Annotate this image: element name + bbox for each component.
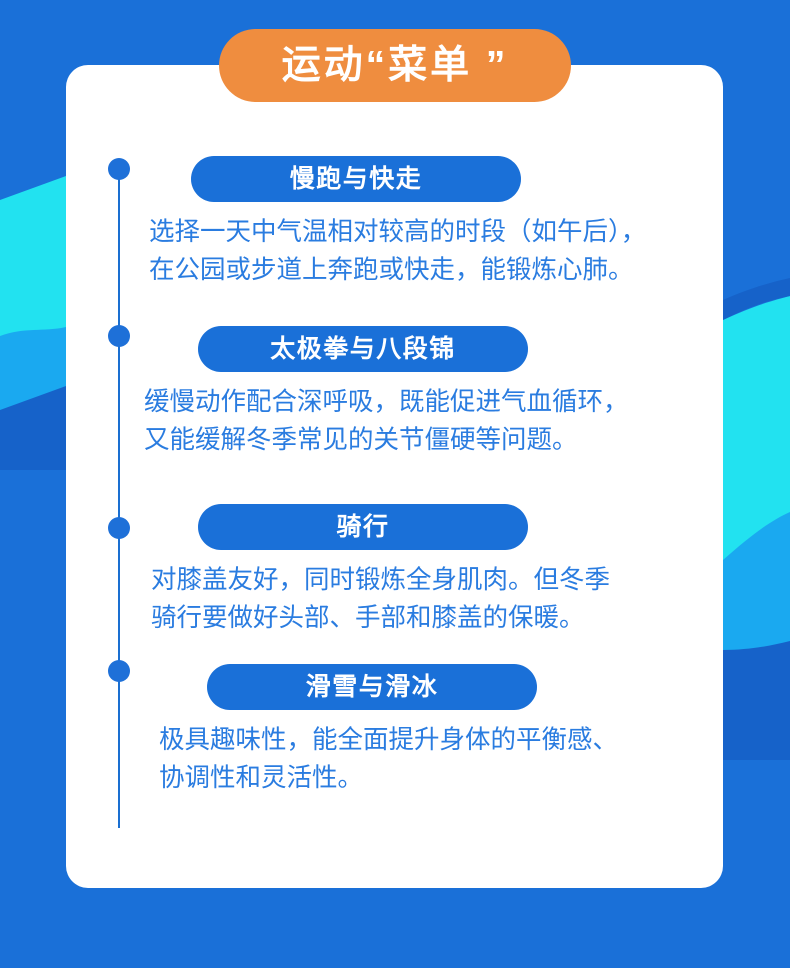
section-1-title: 慢跑与快走 [290, 167, 423, 192]
timeline-dot-3 [108, 517, 130, 539]
left-wave-top-deep [0, 140, 66, 200]
section-3-title: 骑行 [336, 515, 389, 540]
section-2: 太极拳与八段锦 缓慢动作配合深呼吸，既能促进气血循环， 又能缓解冬季常见的关节僵… [147, 326, 712, 459]
section-2-body: 缓慢动作配合深呼吸，既能促进气血循环， 又能缓解冬季常见的关节僵硬等问题。 [144, 383, 712, 459]
section-4-pill[interactable]: 滑雪与滑冰 [207, 664, 537, 710]
section-4-body: 极具趣味性，能全面提升身体的平衡感、 协调性和灵活性。 [159, 721, 712, 797]
left-wave-lightblue [0, 327, 66, 414]
right-wave-lightblue [723, 512, 790, 656]
section-3-body: 对膝盖友好，同时锻炼全身肌肉。但冬季 骑行要做好头部、手部和膝盖的保暖。 [151, 561, 712, 637]
section-2-title: 太极拳与八段锦 [270, 337, 456, 362]
left-wave-cyan-2 [0, 176, 66, 345]
poster-root: 运动“菜单 ” 慢跑与快走 选择一天中气温相对较高的时段（如午后）， 在公园或步… [0, 0, 790, 968]
page-title: 运动“菜单 ” [282, 46, 509, 85]
left-wave-cyan [0, 172, 66, 340]
section-3-pill[interactable]: 骑行 [198, 504, 528, 550]
timeline-line [118, 160, 120, 828]
section-4: 滑雪与滑冰 极具趣味性，能全面提升身体的平衡感、 协调性和灵活性。 [147, 664, 712, 797]
right-wave-cyan [723, 296, 790, 650]
title-pill: 运动“菜单 ” [219, 29, 571, 102]
section-1-pill[interactable]: 慢跑与快走 [191, 156, 521, 202]
left-wave-deep [0, 386, 66, 470]
right-wave-deep-bottom [723, 641, 790, 760]
right-wave-deep-top [723, 278, 790, 320]
section-2-pill[interactable]: 太极拳与八段锦 [198, 326, 528, 372]
timeline-dot-4 [108, 660, 130, 682]
section-1: 慢跑与快走 选择一天中气温相对较高的时段（如午后）， 在公园或步道上奔跑或快走，… [147, 156, 712, 289]
timeline-dot-2 [108, 325, 130, 347]
section-3: 骑行 对膝盖友好，同时锻炼全身肌肉。但冬季 骑行要做好头部、手部和膝盖的保暖。 [147, 504, 712, 637]
timeline-dot-1 [108, 158, 130, 180]
section-1-body: 选择一天中气温相对较高的时段（如午后）， 在公园或步道上奔跑或快走，能锻炼心肺。 [149, 213, 712, 289]
section-4-title: 滑雪与滑冰 [306, 675, 439, 700]
